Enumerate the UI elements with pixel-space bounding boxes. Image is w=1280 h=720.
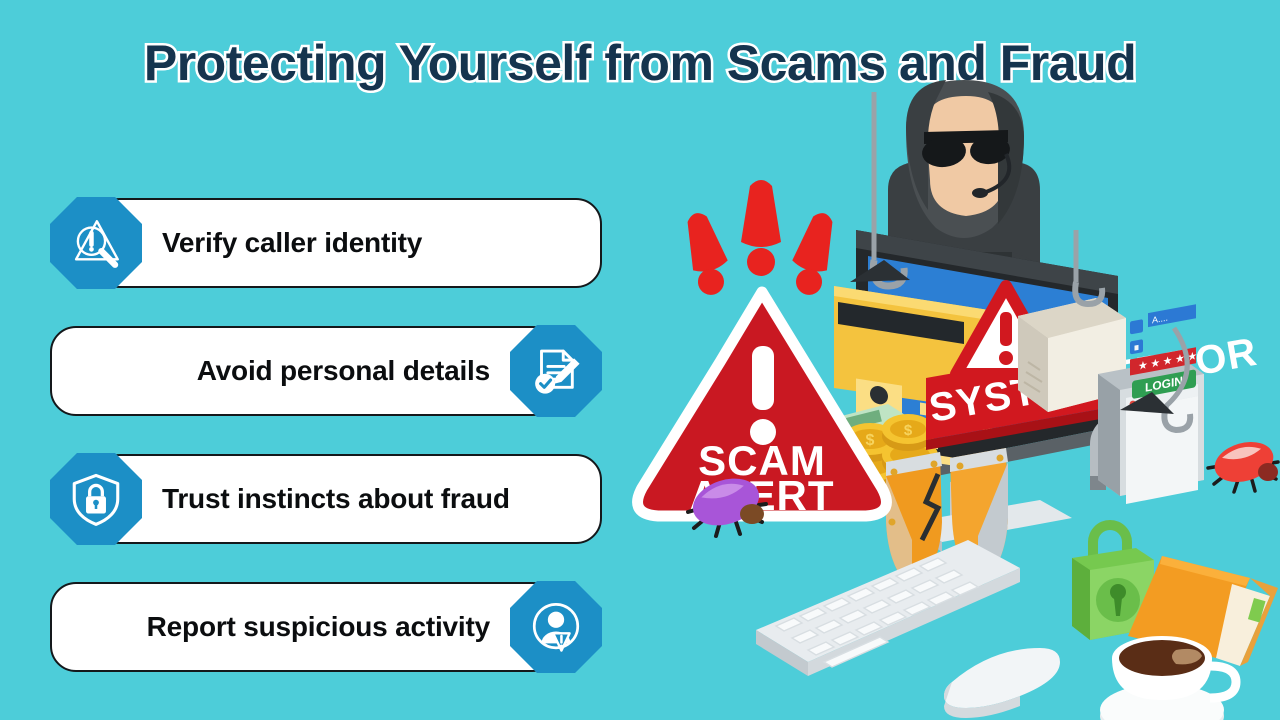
list-item[interactable]: Verify caller identity (50, 198, 602, 288)
shield-lock-icon (50, 453, 142, 545)
person-warning-icon (510, 581, 602, 673)
tips-list: Verify caller identity Avoid personal de… (50, 198, 602, 678)
document-pencil-check-icon (510, 325, 602, 417)
svg-text:$: $ (904, 422, 913, 439)
red-bug (1208, 435, 1278, 492)
poster-canvas: Protecting Yourself from Scams and Fraud… (0, 0, 1280, 720)
illustration-online-scam-scene: $ $ (620, 70, 1280, 720)
exclamation-marks (678, 180, 842, 298)
tip-label-3: Trust instincts about fraud (162, 483, 510, 515)
user-field-icon (1130, 319, 1143, 334)
tip-pill-1[interactable]: Verify caller identity (94, 198, 602, 288)
list-item[interactable]: Trust instincts about fraud (50, 454, 602, 544)
mouse (944, 648, 1060, 718)
list-item[interactable]: Report suspicious activity (50, 582, 602, 672)
tip-pill-4[interactable]: Report suspicious activity (50, 582, 558, 672)
tip-label-1: Verify caller identity (162, 227, 422, 259)
magnifier-warning-icon (50, 197, 142, 289)
tip-pill-2[interactable]: Avoid personal details (50, 326, 558, 416)
tip-label-4: Report suspicious activity (147, 611, 490, 643)
svg-text:$: $ (866, 432, 875, 449)
keyboard (756, 540, 1020, 676)
tip-label-2: Avoid personal details (197, 355, 490, 387)
tip-pill-3[interactable]: Trust instincts about fraud (94, 454, 602, 544)
list-item[interactable]: Avoid personal details (50, 326, 602, 416)
